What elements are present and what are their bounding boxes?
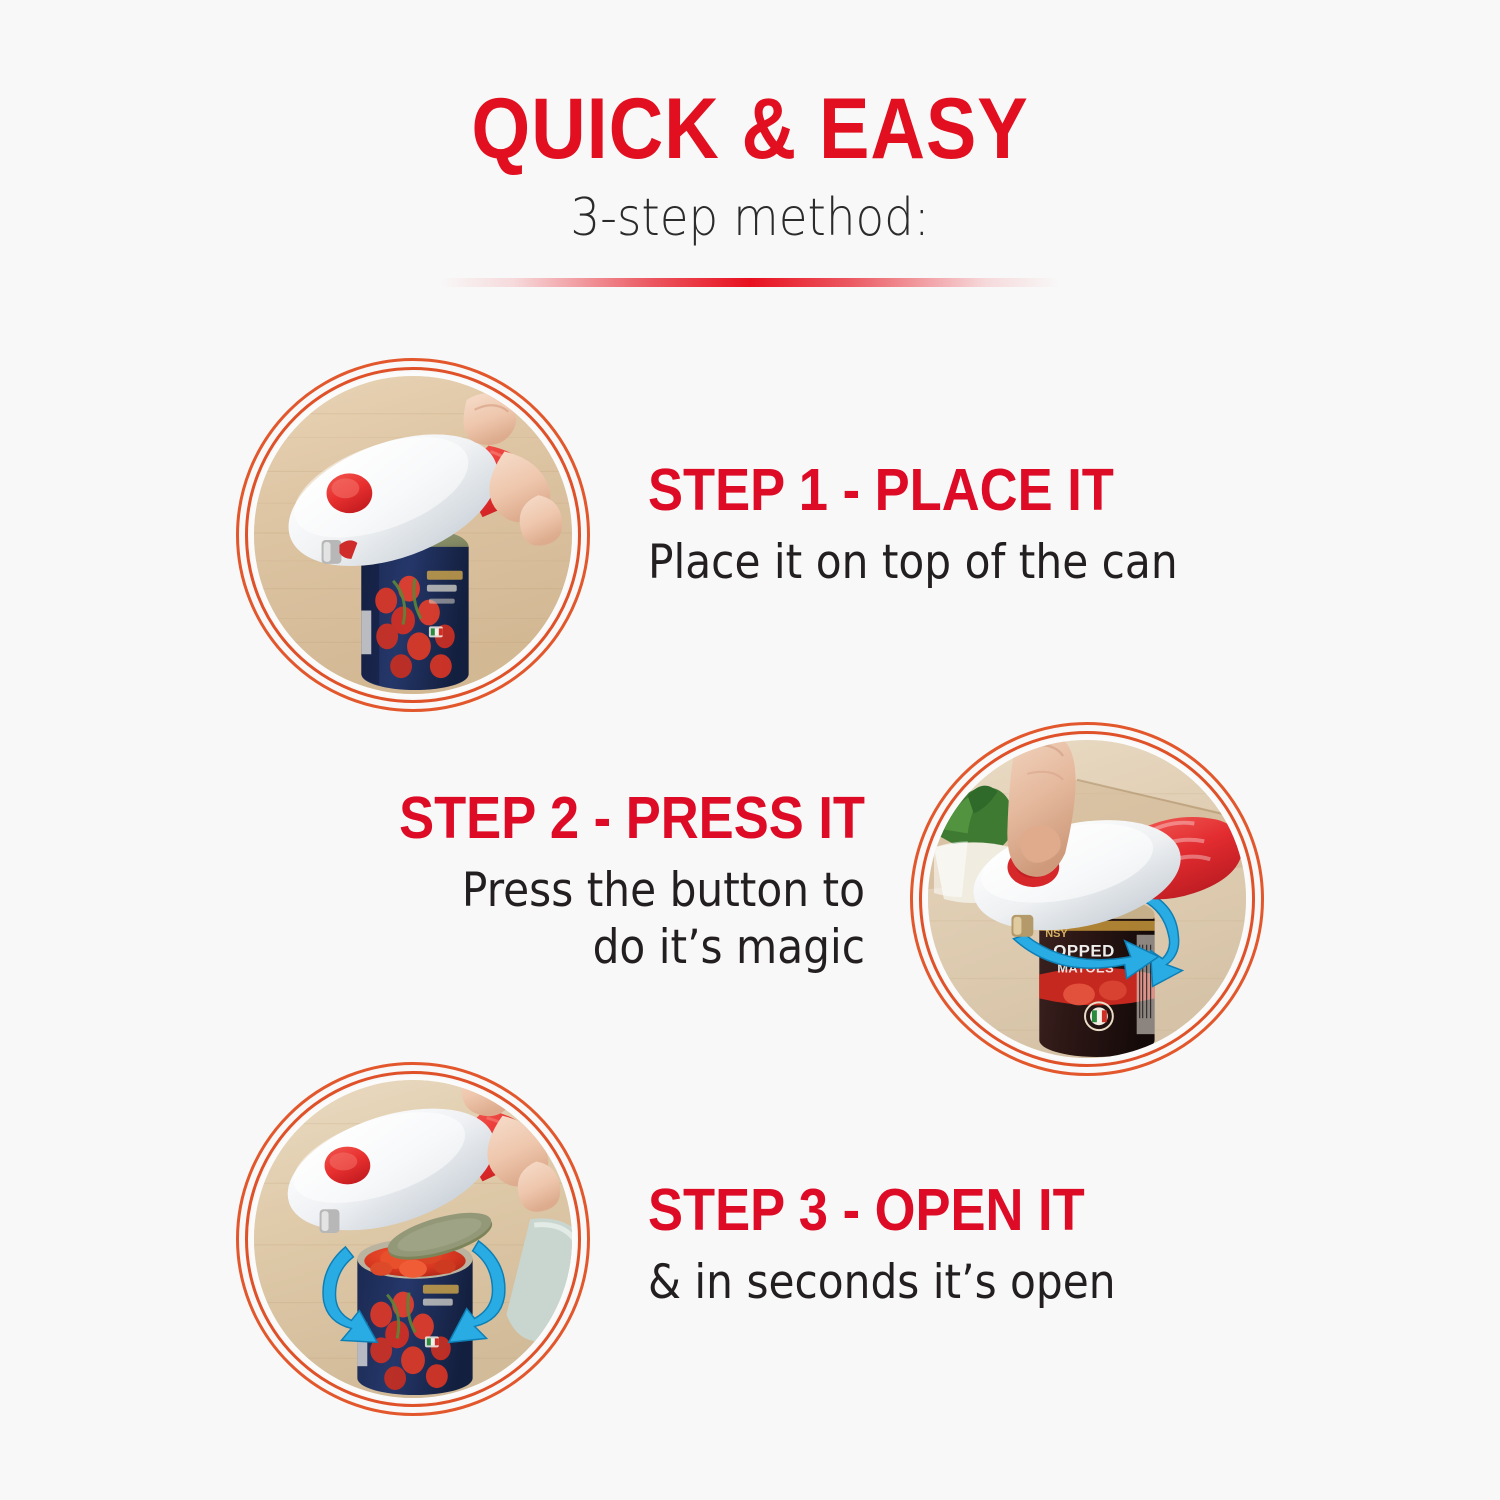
step-3-heading: STEP 3 - OPEN IT xyxy=(648,1180,1218,1242)
step-2-description-line-2: do it’s magic xyxy=(316,919,865,976)
step-1-image-circle xyxy=(236,358,590,712)
step-1-text: STEP 1 - PLACE IT Place it on top of the… xyxy=(648,460,1288,591)
step-1-heading: STEP 1 - PLACE IT xyxy=(648,460,1218,522)
step-3-description: & in seconds it’s open xyxy=(648,1254,1224,1311)
step-3-photo xyxy=(254,1080,572,1398)
step-2-heading: STEP 2 - PRESS IT xyxy=(322,788,865,850)
infographic-page: QUICK & EASY 3-step method: xyxy=(0,0,1500,1500)
step-2-text: STEP 2 - PRESS IT Press the button to do… xyxy=(255,788,865,977)
header: QUICK & EASY 3-step method: xyxy=(0,86,1500,248)
step-2-description-line-1: Press the button to xyxy=(316,862,865,919)
step-3-image-circle xyxy=(236,1062,590,1416)
page-title: QUICK & EASY xyxy=(90,86,1410,172)
step-2-image-circle: OPPED MATOES NSY xyxy=(910,722,1264,1076)
step-3-text: STEP 3 - OPEN IT & in seconds it’s open xyxy=(648,1180,1288,1311)
page-subtitle: 3-step method: xyxy=(75,188,1425,248)
step-1-description: Place it on top of the can xyxy=(648,534,1224,591)
header-divider xyxy=(440,278,1060,287)
step-1-photo xyxy=(254,376,572,694)
step-2-photo: OPPED MATOES NSY xyxy=(928,740,1246,1058)
header-divider-wrap xyxy=(0,278,1500,287)
